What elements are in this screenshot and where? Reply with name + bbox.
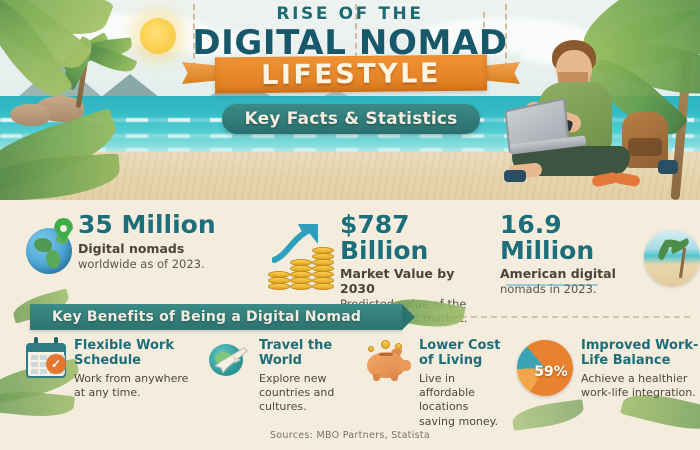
piggy-bank-shape: [365, 340, 411, 380]
stat-card-market-value: $787 Billion Market Value by 2030 Predic…: [262, 204, 484, 300]
stat-card-digital-nomads: 35 Million Digital nomads worldwide as o…: [0, 204, 262, 300]
benefits-row: ✓ Flexible Work Schedule Work from anywh…: [0, 338, 700, 424]
coin-stack: [312, 248, 334, 290]
coin-stack: [268, 272, 290, 290]
coin-icon: [268, 283, 290, 290]
piggy-leg: [373, 374, 380, 381]
coin-icon: [312, 283, 334, 290]
benefit-card-improved-work-life-balance: 59% Improved Work-Life Balance Achieve a…: [505, 338, 700, 424]
benefit-card-flexible-work-schedule: ✓ Flexible Work Schedule Work from anywh…: [0, 338, 193, 424]
camera-icon: [658, 160, 678, 174]
calendar-header: [26, 343, 66, 352]
benefit-text-group: Improved Work-Life Balance Achieve a hea…: [581, 338, 700, 400]
stat-sublabel: worldwide as of 2023.: [78, 257, 216, 271]
binoculars-icon: [504, 170, 526, 182]
piggy-bank-icon: [365, 340, 411, 380]
benefit-description: Explore new countries and cultures.: [259, 372, 355, 415]
benefit-title: Travel the World: [259, 339, 355, 369]
piggy-coin-slot: [379, 353, 393, 356]
sources-footer: Sources: MBO Partners, Statista: [0, 430, 700, 441]
piggy-snout: [399, 360, 411, 371]
infographic-poster: RISE OF THE DIGITAL NOMAD LIFESTYLE Key …: [0, 0, 700, 450]
benefit-text-group: Lower Cost of Living Live in affordable …: [419, 338, 505, 429]
subtitle-pill: Key Facts & Statistics: [222, 104, 480, 134]
benefit-title: Flexible Work Schedule: [74, 339, 193, 369]
stat-text-group: 35 Million Digital nomads worldwide as o…: [78, 204, 216, 271]
flip-flop-icon: [613, 172, 641, 187]
pie-chart-icon: 59%: [517, 340, 573, 396]
eyebrow-title: RISE OF THE: [0, 4, 700, 24]
benefits-banner-label: Key Benefits of Being a Digital Nomad: [52, 309, 361, 325]
stat-card-american-nomads: 16.9 Million American digital nomads in …: [484, 204, 700, 300]
check-mark-icon: ✓: [46, 354, 66, 374]
stat-label: Digital nomads: [78, 241, 216, 256]
calendar-cell: [31, 362, 38, 367]
rock-icon: [10, 104, 50, 126]
benefit-description: Achieve a healthier work-life integratio…: [581, 372, 700, 401]
benefit-card-travel-the-world: Travel the World Explore new countries a…: [193, 338, 355, 424]
coin-stack: [290, 260, 312, 290]
stat-value: 35 Million: [78, 212, 216, 238]
calendar-cell: [31, 369, 38, 374]
stat-label: American digital: [500, 266, 644, 281]
stat-sublabel: nomads in 2023.: [500, 282, 644, 296]
globe-landmass: [46, 250, 60, 268]
title-block: RISE OF THE DIGITAL NOMAD: [0, 4, 700, 62]
coin-icon: [290, 283, 312, 290]
benefit-card-lower-cost-of-living: Lower Cost of Living Live in affordable …: [355, 338, 505, 424]
coin-icon: [368, 346, 374, 352]
lifestyle-ribbon: LIFESTYLE: [215, 55, 487, 94]
pie-chart-shape: 59%: [517, 340, 573, 396]
piggy-leg: [391, 374, 398, 381]
globe-airplane-icon: [207, 340, 251, 380]
benefit-title: Lower Cost of Living: [419, 339, 505, 369]
subtitle-label: Key Facts & Statistics: [245, 109, 458, 129]
stat-label: Market Value by 2030: [340, 266, 484, 296]
calendar-cell: [40, 369, 47, 374]
coins-growth-arrow-icon: [266, 218, 340, 294]
benefit-title: Improved Work-Life Balance: [581, 339, 700, 369]
stat-value: $787 Billion: [340, 212, 484, 263]
ribbon-label: LIFESTYLE: [261, 58, 441, 91]
key-statistics-row: 35 Million Digital nomads worldwide as o…: [0, 204, 700, 300]
palm-tree-trunk: [679, 248, 686, 278]
globe-pin-icon: [26, 220, 78, 272]
coin-icon: [381, 340, 390, 349]
benefit-description: Live in affordable locations saving mone…: [419, 372, 505, 429]
benefit-text-group: Travel the World Explore new countries a…: [259, 338, 355, 415]
calendar-cell: [31, 355, 38, 360]
stat-value: 16.9 Million: [500, 212, 644, 263]
benefit-text-group: Flexible Work Schedule Work from anywher…: [74, 338, 193, 400]
calendar-check-icon: ✓: [26, 340, 66, 378]
pie-chart-value-label: 59%: [534, 364, 568, 380]
benefits-section-banner: Key Benefits of Being a Digital Nomad: [30, 304, 402, 330]
beach-photo-circle-icon: [644, 230, 700, 286]
airplane-icon: [211, 346, 249, 376]
benefit-description: Work from anywhere at any time.: [74, 372, 193, 401]
stat-text-group: 16.9 Million American digital nomads in …: [500, 204, 644, 296]
calendar-shape: ✓: [26, 340, 66, 378]
travel-icon-shape: [207, 340, 251, 380]
